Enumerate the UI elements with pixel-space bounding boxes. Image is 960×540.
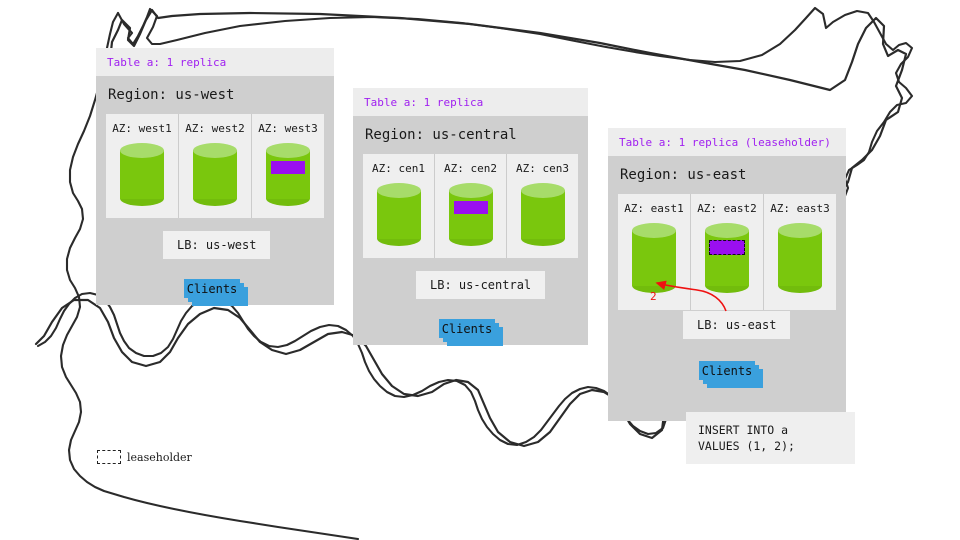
cylinder-body xyxy=(632,230,676,286)
node-cylinder-east3[interactable] xyxy=(778,223,822,293)
node-cylinder-cen3[interactable] xyxy=(521,183,565,246)
cylinder-top xyxy=(705,223,749,238)
az-label-west2: AZ: west2 xyxy=(185,122,245,135)
sql-statement-box: INSERT INTO a VALUES (1, 2); xyxy=(686,412,855,464)
az-label-west1: AZ: west1 xyxy=(112,122,172,135)
cylinder-top xyxy=(632,223,676,238)
az-cell-west1[interactable]: AZ: west1 xyxy=(106,114,178,218)
node-cylinder-east1[interactable] xyxy=(632,223,676,293)
az-row-us-west: AZ: west1 AZ: west2 AZ xyxy=(106,114,324,218)
leaseholder-swatch-icon xyxy=(97,450,121,464)
region-body-us-west: Region: us-west AZ: west1 AZ: west2 xyxy=(96,76,334,305)
az-cell-west3[interactable]: AZ: west3 xyxy=(251,114,324,218)
lb-box-us-west[interactable]: LB: us-west xyxy=(163,231,270,259)
az-cell-west2[interactable]: AZ: west2 xyxy=(178,114,251,218)
region-panel-us-east: Table a: 1 replica (leaseholder) Region:… xyxy=(608,128,846,421)
region-panel-us-west: Table a: 1 replica Region: us-west AZ: w… xyxy=(96,48,334,305)
cylinder-top xyxy=(377,183,421,198)
cylinder-body xyxy=(778,230,822,286)
az-cell-east2[interactable]: AZ: east2 xyxy=(690,194,763,310)
cylinder-body xyxy=(705,230,749,286)
cylinder-top xyxy=(778,223,822,238)
az-cell-cen1[interactable]: AZ: cen1 xyxy=(363,154,434,258)
az-label-west3: AZ: west3 xyxy=(258,122,318,135)
az-label-cen2: AZ: cen2 xyxy=(444,162,497,175)
clients-button-us-east[interactable]: Clients xyxy=(699,361,763,388)
az-label-east2: AZ: east2 xyxy=(697,202,757,215)
node-cylinder-west2[interactable] xyxy=(193,143,237,206)
legend-label: leaseholder xyxy=(127,451,192,464)
legend-leaseholder: leaseholder xyxy=(97,450,192,464)
az-cell-cen3[interactable]: AZ: cen3 xyxy=(506,154,578,258)
replica-banner-us-central: Table a: 1 replica xyxy=(353,88,588,116)
region-title-us-central: Region: us-central xyxy=(363,116,578,154)
leaseholder-marker-west3 xyxy=(271,161,305,174)
region-panel-us-central: Table a: 1 replica Region: us-central AZ… xyxy=(353,88,588,345)
az-label-east1: AZ: east1 xyxy=(624,202,684,215)
leaseholder-marker-east2 xyxy=(709,240,745,255)
cylinder-top xyxy=(193,143,237,158)
az-cell-east3[interactable]: AZ: east3 xyxy=(763,194,836,310)
region-title-us-west: Region: us-west xyxy=(106,76,324,114)
diagram-stage: Table a: 1 replica Region: us-west AZ: w… xyxy=(0,0,960,540)
node-cylinder-cen2[interactable] xyxy=(449,183,493,246)
node-cylinder-cen1[interactable] xyxy=(377,183,421,246)
cylinder-top xyxy=(449,183,493,198)
leaseholder-marker-cen2 xyxy=(454,201,488,214)
region-title-us-east: Region: us-east xyxy=(618,156,836,194)
az-row-us-central: AZ: cen1 AZ: cen2 xyxy=(363,154,578,258)
lb-box-us-east[interactable]: LB: us-east xyxy=(683,311,790,339)
cylinder-top xyxy=(120,143,164,158)
node-cylinder-east2[interactable] xyxy=(705,223,749,293)
cylinder-top xyxy=(521,183,565,198)
clients-button-label: Clients xyxy=(699,361,755,380)
az-label-cen1: AZ: cen1 xyxy=(372,162,425,175)
clients-button-us-central[interactable]: Clients xyxy=(439,319,503,346)
az-cell-cen2[interactable]: AZ: cen2 xyxy=(434,154,506,258)
clients-button-label: Clients xyxy=(184,279,240,298)
region-body-us-central: Region: us-central AZ: cen1 AZ: cen2 xyxy=(353,116,588,345)
replica-banner-us-east: Table a: 1 replica (leaseholder) xyxy=(608,128,846,156)
arrow-step-label: 2 xyxy=(650,290,657,303)
replica-banner-us-west: Table a: 1 replica xyxy=(96,48,334,76)
clients-button-label: Clients xyxy=(439,319,495,338)
lb-box-us-central[interactable]: LB: us-central xyxy=(416,271,545,299)
node-cylinder-west1[interactable] xyxy=(120,143,164,206)
az-label-cen3: AZ: cen3 xyxy=(516,162,569,175)
cylinder-top xyxy=(266,143,310,158)
az-label-east3: AZ: east3 xyxy=(770,202,830,215)
clients-button-us-west[interactable]: Clients xyxy=(184,279,248,306)
node-cylinder-west3[interactable] xyxy=(266,143,310,206)
